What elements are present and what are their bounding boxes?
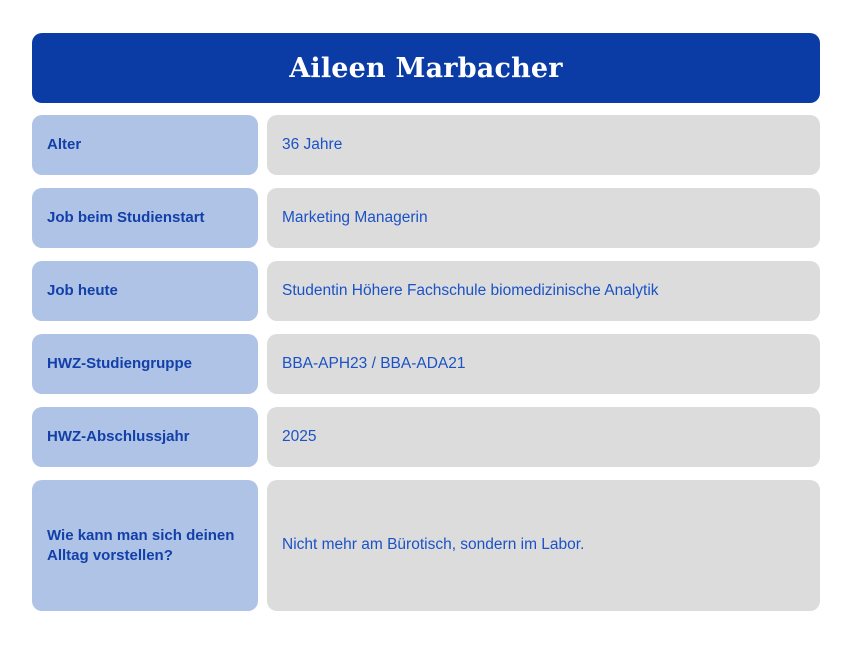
table-row-label-cell: Wie kann man sich deinen Alltag vorstell… — [32, 480, 258, 611]
table-row-label: Wie kann man sich deinen Alltag vorstell… — [47, 526, 244, 564]
table-row-label: HWZ-Abschlussjahr — [47, 427, 190, 446]
table-row-label: HWZ-Studiengruppe — [47, 354, 192, 373]
table-row-value: Marketing Managerin — [282, 208, 428, 228]
table-row: HWZ-StudiengruppeBBA-APH23 / BBA-ADA21 — [32, 334, 820, 394]
table-row: Job beim StudienstartMarketing Managerin — [32, 188, 820, 248]
table-row-label: Job heute — [47, 281, 118, 300]
table-row-value: 36 Jahre — [282, 135, 342, 155]
page-title: Aileen Marbacher — [289, 55, 563, 82]
table-row-value: 2025 — [282, 427, 316, 447]
table-row-value-cell: 36 Jahre — [267, 115, 820, 175]
table-row-value: Nicht mehr am Bürotisch, sondern im Labo… — [282, 535, 584, 555]
table-row-label-cell: Job heute — [32, 261, 258, 321]
table-row-value-cell: Studentin Höhere Fachschule biomedizinis… — [267, 261, 820, 321]
table-row-label: Job beim Studienstart — [47, 208, 205, 227]
table-row-label: Alter — [47, 135, 81, 154]
table-row: Wie kann man sich deinen Alltag vorstell… — [32, 480, 820, 611]
table-row-value-cell: BBA-APH23 / BBA-ADA21 — [267, 334, 820, 394]
table-row-label-cell: HWZ-Abschlussjahr — [32, 407, 258, 467]
profile-details-table: Alter36 JahreJob beim StudienstartMarket… — [32, 115, 820, 611]
table-row-value: Studentin Höhere Fachschule biomedizinis… — [282, 281, 659, 301]
table-row-value-cell: Nicht mehr am Bürotisch, sondern im Labo… — [267, 480, 820, 611]
table-row-value-cell: 2025 — [267, 407, 820, 467]
table-row-value: BBA-APH23 / BBA-ADA21 — [282, 354, 466, 374]
table-row-label-cell: Alter — [32, 115, 258, 175]
table-row-label-cell: HWZ-Studiengruppe — [32, 334, 258, 394]
table-row-value-cell: Marketing Managerin — [267, 188, 820, 248]
table-row-label-cell: Job beim Studienstart — [32, 188, 258, 248]
table-row: HWZ-Abschlussjahr2025 — [32, 407, 820, 467]
profile-header-banner: Aileen Marbacher — [32, 33, 820, 103]
table-row: Job heuteStudentin Höhere Fachschule bio… — [32, 261, 820, 321]
table-row: Alter36 Jahre — [32, 115, 820, 175]
profile-card: Aileen Marbacher Alter36 JahreJob beim S… — [32, 33, 820, 611]
